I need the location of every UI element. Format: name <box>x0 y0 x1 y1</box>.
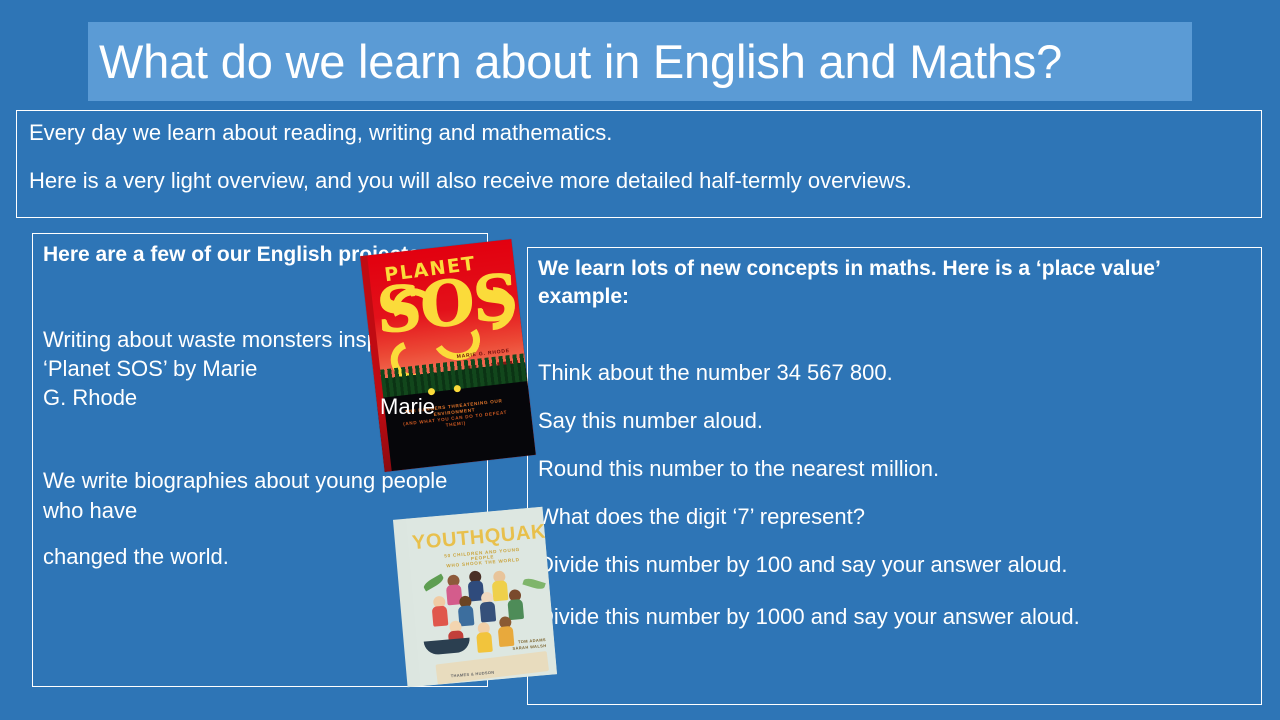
person-figure <box>474 622 494 653</box>
youthquake-illustration: TOM ADAMS SARAH WALSH THAMES & HUDSON <box>414 565 555 686</box>
maths-item: What does the digit ‘7’ represent? <box>538 506 1253 528</box>
person-figure <box>430 595 450 626</box>
maths-textbox: We learn lots of new concepts in maths. … <box>527 247 1262 705</box>
intro-line-1: Every day we learn about reading, writin… <box>29 122 1249 144</box>
slide-title-banner: What do we learn about in English and Ma… <box>88 22 1192 101</box>
english-paragraph-3: We write biographies about young people … <box>43 466 477 525</box>
youthquake-credit: TOM ADAMS SARAH WALSH <box>512 637 547 652</box>
boat-icon <box>424 638 471 656</box>
book-cover-youthquake: YOUTHQUAKE 50 CHILDREN AND YOUNG PEOPLE … <box>393 507 557 687</box>
maths-item: Think about the number 34 567 800. <box>538 362 1253 384</box>
maths-item: Divide this number by 1000 and say your … <box>538 602 1183 631</box>
english-paragraph-1-overlay: Marie <box>380 396 435 418</box>
page-title: What do we learn about in English and Ma… <box>99 38 1062 85</box>
maths-question-list: Think about the number 34 567 800. Say t… <box>538 362 1253 631</box>
maths-heading: We learn lots of new concepts in maths. … <box>538 255 1198 311</box>
leaf-icon <box>422 574 445 592</box>
maths-item: Round this number to the nearest million… <box>538 458 1253 480</box>
intro-textbox: Every day we learn about reading, writin… <box>16 110 1262 218</box>
maths-item: Say this number aloud. <box>538 410 1253 432</box>
maths-item: Divide this number by 100 and say your a… <box>538 554 1253 576</box>
book-cover-planet-sos: PLANET SOS MARIE G. RHODE THE DANGERS TH… <box>360 239 536 472</box>
intro-line-2: Here is a very light overview, and you w… <box>29 170 1249 192</box>
slide-canvas: What do we learn about in English and Ma… <box>0 0 1280 720</box>
leaf-icon <box>522 577 545 591</box>
person-figure <box>478 591 498 622</box>
person-figure <box>506 589 526 620</box>
